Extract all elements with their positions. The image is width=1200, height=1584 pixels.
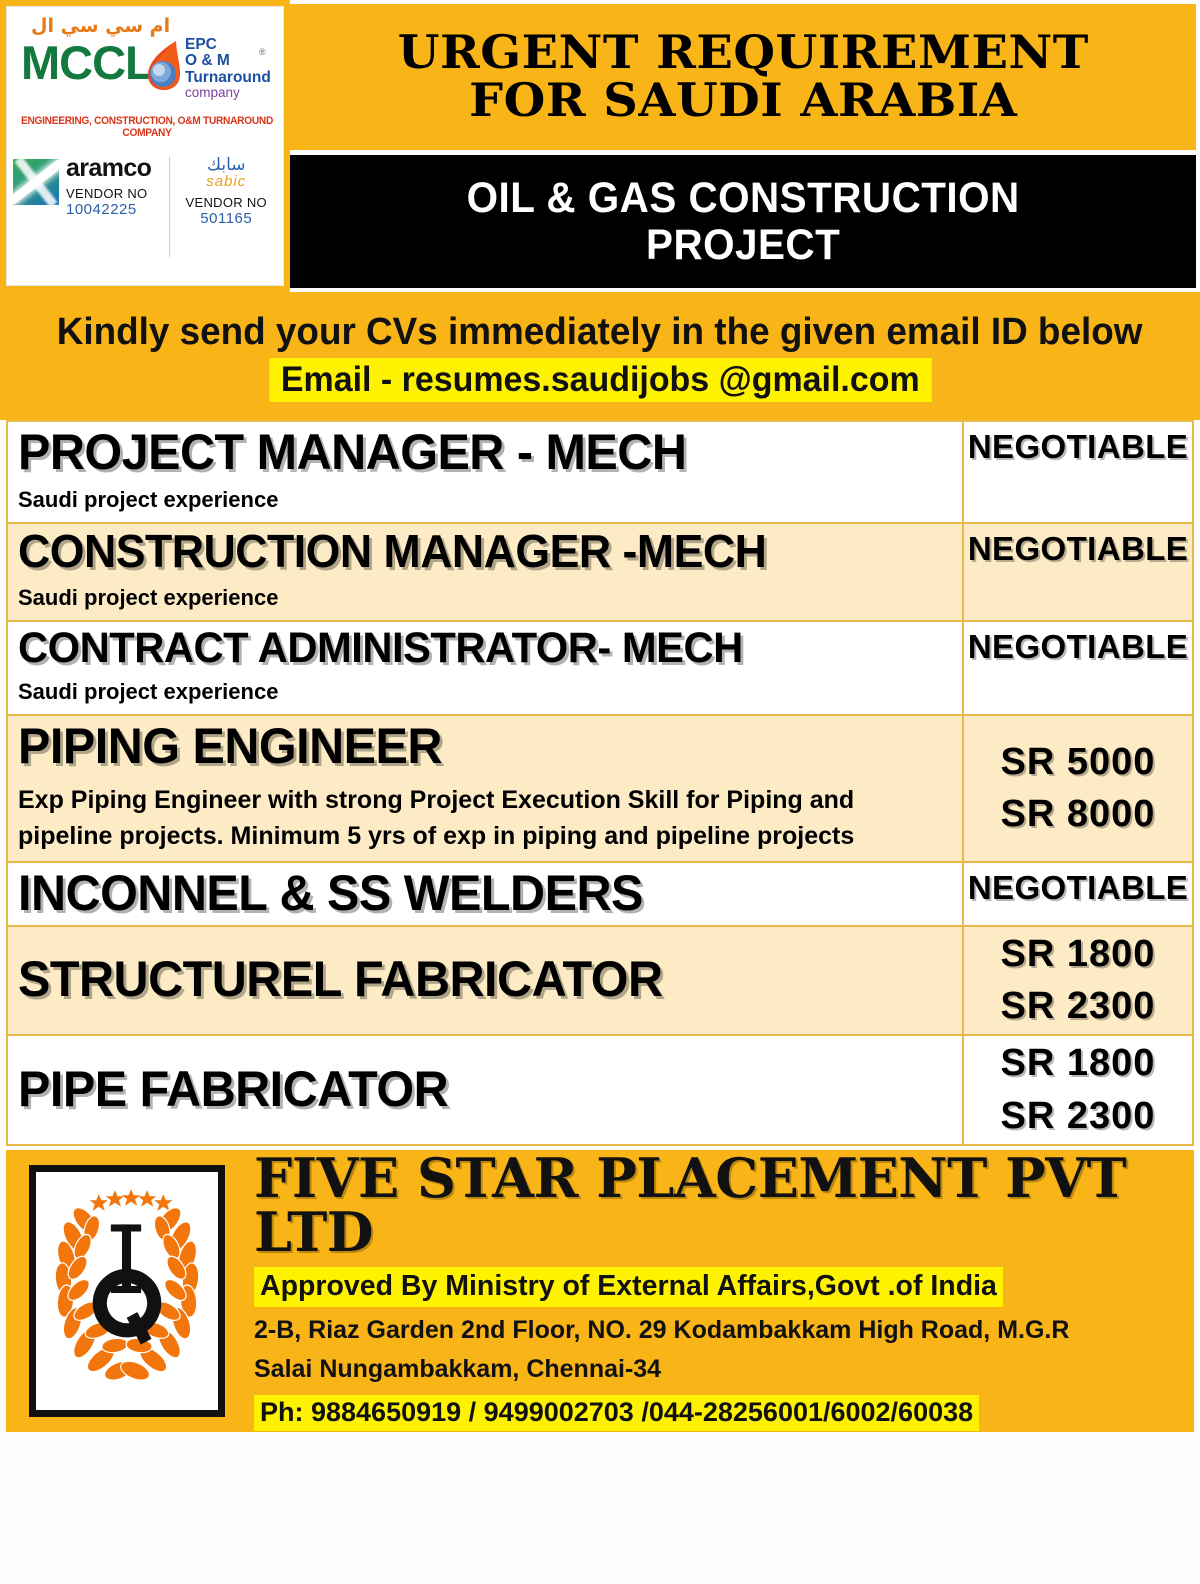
approval-badge: Approved By Ministry of External Affairs… bbox=[254, 1267, 1003, 1307]
aramco-wordmark: aramco bbox=[66, 156, 163, 181]
sabic-logo: سابك sabic VENDOR NO 501165 bbox=[170, 157, 277, 257]
mccl-epc-line3: Turnaround bbox=[185, 70, 271, 86]
job-description: Saudi project experience bbox=[18, 582, 952, 614]
job-description: Exp Piping Engineer with strong Project … bbox=[18, 782, 952, 855]
phone-numbers[interactable]: Ph: 9884650919 / 9499002703 /044-2825600… bbox=[254, 1395, 979, 1431]
salary-cell: SR 1800 SR 2300 bbox=[964, 1036, 1192, 1144]
project-banner: OIL & GAS CONSTRUCTION PROJECT bbox=[290, 155, 1196, 288]
mccl-epc-line1: EPC bbox=[185, 37, 271, 53]
job-description: Saudi project experience bbox=[18, 484, 952, 516]
vendor-block: aramco VENDOR NO 10042225 سابك sabic VEN… bbox=[13, 157, 277, 257]
project-line-2: PROJECT bbox=[466, 222, 1019, 268]
aramco-mark-icon bbox=[13, 159, 59, 205]
salary-value: SR 1800 bbox=[1001, 935, 1156, 974]
salary-value: SR 5000 bbox=[1001, 743, 1156, 782]
salary-cell: NEGOTIABLE bbox=[964, 863, 1192, 925]
job-info-cell: CONSTRUCTION MANAGER -MECH Saudi project… bbox=[8, 524, 964, 620]
salary-value: SR 8000 bbox=[1001, 795, 1156, 834]
mccl-wordmark: MCCL bbox=[21, 39, 153, 86]
salary-cell: NEGOTIABLE bbox=[964, 622, 1192, 715]
mccl-company-word: company bbox=[185, 85, 240, 100]
address-line-1: 2-B, Riaz Garden 2nd Floor, NO. 29 Kodam… bbox=[254, 1312, 1186, 1350]
job-info-cell: PIPING ENGINEER Exp Piping Engineer with… bbox=[8, 716, 964, 861]
salary-cell: NEGOTIABLE bbox=[964, 524, 1192, 620]
job-title: PROJECT MANAGER - MECH bbox=[18, 426, 924, 478]
salary-value: NEGOTIABLE bbox=[968, 630, 1188, 664]
job-title: STRUCTUREL FABRICATOR bbox=[18, 953, 924, 1005]
job-info-cell: STRUCTUREL FABRICATOR bbox=[8, 927, 964, 1035]
job-info-cell: CONTRACT ADMINISTRATOR- MECH Saudi proje… bbox=[8, 622, 964, 715]
table-row: STRUCTUREL FABRICATOR SR 1800 SR 2300 bbox=[8, 927, 1192, 1037]
mccl-logo: ام سي سي ال MCCL EPC O & M Turnaround bbox=[13, 11, 277, 151]
job-info-cell: PROJECT MANAGER - MECH Saudi project exp… bbox=[8, 422, 964, 522]
flyer-page: ام سي سي ال MCCL EPC O & M Turnaround bbox=[0, 0, 1200, 1584]
email-address[interactable]: Email - resumes.saudijobs @gmail.com bbox=[269, 358, 931, 402]
table-row: CONTRACT ADMINISTRATOR- MECH Saudi proje… bbox=[8, 622, 1192, 717]
salary-value: SR 2300 bbox=[1001, 987, 1156, 1026]
job-title: PIPING ENGINEER bbox=[18, 720, 924, 772]
salary-cell: SR 1800 SR 2300 bbox=[964, 927, 1192, 1035]
table-row: PIPE FABRICATOR SR 1800 SR 2300 bbox=[8, 1036, 1192, 1146]
salary-cell: NEGOTIABLE bbox=[964, 422, 1192, 522]
jobs-table: PROJECT MANAGER - MECH Saudi project exp… bbox=[6, 420, 1194, 1146]
job-description: Saudi project experience bbox=[18, 676, 952, 708]
salary-cell: SR 5000 SR 8000 bbox=[964, 716, 1192, 861]
urgent-requirement-text: URGENT REQUIREMENT FOR SAUDI ARABIA bbox=[397, 29, 1088, 125]
job-info-cell: PIPE FABRICATOR bbox=[8, 1036, 964, 1144]
mccl-epc-block: EPC O & M Turnaround bbox=[185, 37, 271, 86]
salary-value: SR 2300 bbox=[1001, 1097, 1156, 1136]
table-row: CONSTRUCTION MANAGER -MECH Saudi project… bbox=[8, 524, 1192, 622]
sabic-vendor-label: VENDOR NO bbox=[176, 195, 277, 210]
job-title: PIPE FABRICATOR bbox=[18, 1063, 924, 1115]
trademark-icon: ® bbox=[259, 47, 266, 57]
five-star-logo-panel bbox=[14, 1158, 240, 1424]
laurel-wreath-iq-icon bbox=[36, 1172, 218, 1410]
aramco-vendor-number: 10042225 bbox=[66, 201, 163, 218]
urgent-line-2: FOR SAUDI ARABIA bbox=[397, 77, 1088, 125]
mccl-logo-inner: ام سي سي ال MCCL EPC O & M Turnaround bbox=[6, 6, 284, 286]
job-info-cell: INCONNEL & SS WELDERS bbox=[8, 863, 964, 925]
mccl-tagline: ENGINEERING, CONSTRUCTION, O&M TURNAROUN… bbox=[15, 115, 279, 139]
agency-name: FIVE STAR PLACEMENT PVT LTD bbox=[254, 1151, 1186, 1259]
address-line-2: Salai Nungambakkam, Chennai-34 bbox=[254, 1351, 1186, 1389]
salary-value: NEGOTIABLE bbox=[968, 532, 1188, 566]
mccl-logo-panel: ام سي سي ال MCCL EPC O & M Turnaround bbox=[0, 0, 290, 292]
email-banner: Kindly send your CVs immediately in the … bbox=[0, 292, 1200, 420]
aramco-text: aramco VENDOR NO 10042225 bbox=[66, 157, 163, 218]
salary-value: SR 1800 bbox=[1001, 1044, 1156, 1083]
project-banner-text: OIL & GAS CONSTRUCTION PROJECT bbox=[466, 175, 1019, 268]
table-row: PROJECT MANAGER - MECH Saudi project exp… bbox=[8, 422, 1192, 524]
urgent-line-1: URGENT REQUIREMENT bbox=[397, 29, 1088, 77]
footer-text-block: FIVE STAR PLACEMENT PVT LTD Approved By … bbox=[240, 1158, 1186, 1424]
project-line-1: OIL & GAS CONSTRUCTION bbox=[466, 175, 1019, 221]
salary-value: NEGOTIABLE bbox=[968, 871, 1188, 905]
mccl-epc-line2: O & M bbox=[185, 53, 271, 69]
header-titles: URGENT REQUIREMENT FOR SAUDI ARABIA OIL … bbox=[290, 0, 1200, 292]
table-row: INCONNEL & SS WELDERS NEGOTIABLE bbox=[8, 863, 1192, 927]
five-star-logo bbox=[29, 1165, 225, 1417]
job-title: INCONNEL & SS WELDERS bbox=[18, 867, 924, 919]
job-title: CONSTRUCTION MANAGER -MECH bbox=[18, 528, 924, 576]
flame-droplet-icon bbox=[146, 39, 182, 91]
aramco-logo: aramco VENDOR NO 10042225 bbox=[13, 157, 170, 257]
header-section: ام سي سي ال MCCL EPC O & M Turnaround bbox=[0, 0, 1200, 292]
cv-instruction-text: Kindly send your CVs immediately in the … bbox=[57, 311, 1143, 354]
sabic-vendor-number: 501165 bbox=[176, 210, 277, 227]
table-row: PIPING ENGINEER Exp Piping Engineer with… bbox=[8, 716, 1192, 863]
salary-value: NEGOTIABLE bbox=[968, 430, 1188, 464]
urgent-requirement-banner: URGENT REQUIREMENT FOR SAUDI ARABIA bbox=[290, 4, 1196, 150]
footer-section: FIVE STAR PLACEMENT PVT LTD Approved By … bbox=[6, 1150, 1194, 1432]
aramco-vendor-label: VENDOR NO bbox=[66, 186, 163, 201]
mccl-arabic-text: ام سي سي ال bbox=[31, 15, 170, 37]
sabic-wordmark: sabic bbox=[176, 173, 277, 190]
job-title: CONTRACT ADMINISTRATOR- MECH bbox=[18, 626, 924, 671]
sabic-arabic-text: سابك bbox=[176, 157, 277, 174]
